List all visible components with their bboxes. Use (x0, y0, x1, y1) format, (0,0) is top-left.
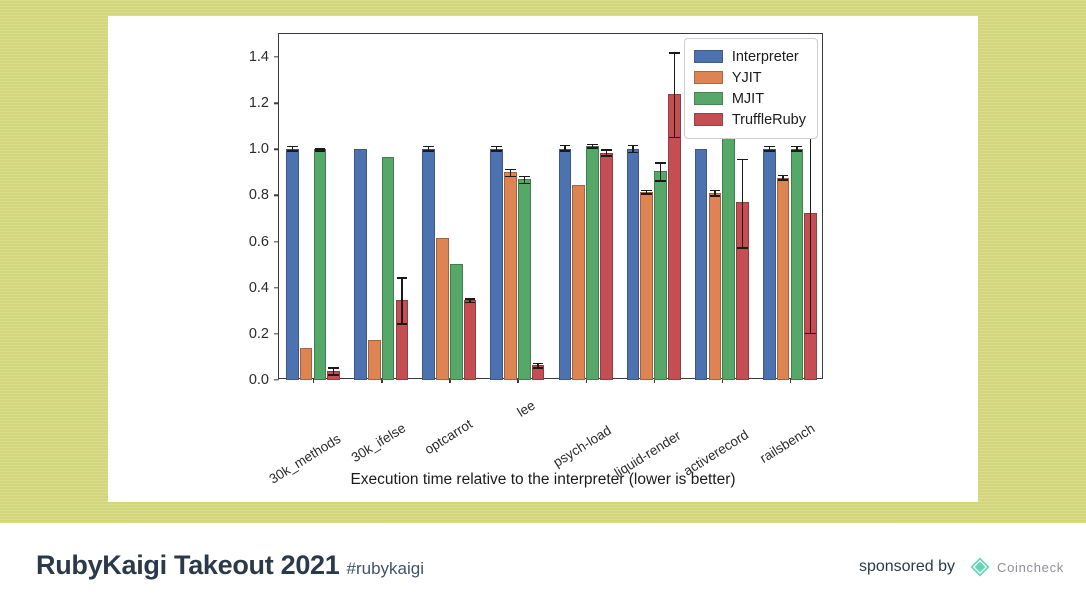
legend-item: MJIT (694, 88, 806, 109)
legend-item: Interpreter (694, 46, 806, 67)
legend-item: YJIT (694, 67, 806, 88)
error-bar-cap-lower (315, 150, 326, 152)
error-bar-cap-lower (710, 195, 721, 197)
error-bar-cap-lower (505, 176, 516, 178)
error-bar-cap-upper (423, 146, 434, 148)
error-bar-cap-upper (287, 146, 298, 148)
y-axis-tick-mark (274, 195, 279, 196)
error-bar-cap-lower (519, 183, 530, 185)
error-bar-cap-upper (533, 363, 544, 365)
error-bar-cap-lower (764, 150, 775, 152)
error-bar-cap-upper (710, 190, 721, 192)
error-bar-cap-upper (505, 169, 516, 171)
y-axis-tick-mark (274, 333, 279, 334)
error-bar-cap-lower (628, 152, 639, 154)
error-bar-cap-upper (628, 145, 639, 147)
bar (640, 192, 653, 380)
legend-color-swatch (694, 50, 723, 63)
bar (354, 149, 367, 380)
bar (464, 300, 477, 380)
error-bar-cap-lower (423, 150, 434, 152)
error-bar-cap-lower (669, 137, 680, 139)
bar (504, 172, 517, 380)
error-bar (742, 159, 743, 248)
legend-item: TruffleRuby (694, 109, 806, 130)
legend-color-swatch (694, 113, 723, 126)
error-bar (401, 277, 402, 323)
error-bar-cap-upper (641, 190, 652, 192)
error-bar-cap-upper (601, 149, 612, 151)
bar (695, 149, 708, 380)
bar (572, 185, 585, 380)
error-bar-cap-lower (641, 193, 652, 195)
error-bar-cap-lower (805, 333, 816, 335)
sponsor-block: sponsored by Coincheck (859, 556, 1064, 578)
bar (368, 340, 381, 380)
y-axis-tick-mark (274, 241, 279, 242)
error-bar-cap-upper (397, 277, 408, 279)
error-bar-cap-upper (791, 146, 802, 148)
sponsor-name: Coincheck (997, 560, 1064, 575)
y-axis-tick-mark (274, 379, 279, 380)
error-bar-cap-upper (669, 52, 680, 54)
bar (518, 179, 531, 380)
error-bar-cap-lower (328, 374, 339, 376)
bar (600, 153, 613, 380)
error-bar (660, 162, 661, 180)
error-bar-cap-upper (491, 146, 502, 148)
error-bar-cap-lower (778, 179, 789, 181)
error-bar-cap-upper (315, 148, 326, 150)
bar (436, 238, 449, 380)
plot-area: 0.00.20.40.60.81.01.21.430k_methods30k_i… (278, 33, 823, 379)
bar (286, 149, 299, 380)
bar (763, 149, 776, 380)
footer-title: RubyKaigi Takeout 2021#rubykaigi (36, 550, 424, 581)
error-bar-cap-upper (764, 146, 775, 148)
bar (382, 157, 395, 380)
benchmark-bar-chart: 0.00.20.40.60.81.01.21.430k_methods30k_i… (108, 16, 978, 502)
bar (722, 130, 735, 380)
error-bar-cap-upper (560, 145, 571, 147)
error-bar-cap-lower (587, 147, 598, 149)
error-bar (674, 52, 675, 136)
bar (300, 348, 313, 380)
error-bar-cap-upper (655, 162, 666, 164)
legend-label: YJIT (732, 70, 762, 86)
bar (654, 171, 667, 380)
y-axis-tick-mark (274, 56, 279, 57)
legend-label: Interpreter (732, 49, 799, 65)
error-bar-cap-lower (737, 247, 748, 249)
x-axis-tick-label: psych-load (550, 423, 613, 470)
bar (490, 149, 503, 380)
error-bar-cap-lower (655, 180, 666, 182)
legend-label: TruffleRuby (732, 112, 806, 128)
event-hashtag: #rubykaigi (347, 559, 425, 578)
error-bar-cap-upper (328, 367, 339, 369)
error-bar-cap-lower (397, 323, 408, 325)
error-bar-cap-lower (533, 367, 544, 369)
error-bar-cap-lower (560, 150, 571, 152)
bar (627, 149, 640, 380)
bar (777, 178, 790, 380)
x-axis-tick-label: lee (515, 398, 538, 420)
error-bar-cap-upper (778, 175, 789, 177)
error-bar-cap-lower (465, 302, 476, 304)
event-name: RubyKaigi Takeout 2021 (36, 550, 340, 580)
bar (422, 149, 435, 380)
error-bar-cap-lower (491, 150, 502, 152)
legend-label: MJIT (732, 91, 764, 107)
bar (791, 149, 804, 380)
error-bar-cap-lower (791, 150, 802, 152)
bar (709, 193, 722, 380)
y-axis-tick-mark (274, 287, 279, 288)
bar (314, 149, 327, 380)
presentation-slide: 0.00.20.40.60.81.01.21.430k_methods30k_i… (0, 0, 1086, 607)
error-bar-cap-lower (601, 155, 612, 157)
bar (450, 264, 463, 380)
chart-legend: InterpreterYJITMJITTruffleRuby (684, 38, 818, 139)
bar (559, 149, 572, 380)
x-axis-label: Execution time relative to the interpret… (108, 471, 978, 489)
error-bar-cap-upper (587, 144, 598, 146)
error-bar-cap-upper (519, 176, 530, 178)
slide-content-panel: 0.00.20.40.60.81.01.21.430k_methods30k_i… (108, 16, 978, 502)
sponsored-by-label: sponsored by (859, 558, 955, 576)
sponsor-logo: Coincheck (969, 556, 1064, 578)
x-axis-tick-label: 30k_ifelse (349, 420, 409, 465)
y-axis-tick-mark (274, 149, 279, 150)
x-axis-tick-label: railsbench (757, 421, 817, 466)
error-bar-cap-upper (737, 159, 748, 161)
x-axis-tick-label: optcarrot (422, 416, 475, 457)
coincheck-diamond-icon (969, 556, 991, 578)
error-bar-cap-upper (465, 298, 476, 300)
legend-color-swatch (694, 92, 723, 105)
error-bar-cap-lower (287, 150, 298, 152)
bar (586, 146, 599, 380)
legend-color-swatch (694, 71, 723, 84)
y-axis-tick-mark (274, 102, 279, 103)
